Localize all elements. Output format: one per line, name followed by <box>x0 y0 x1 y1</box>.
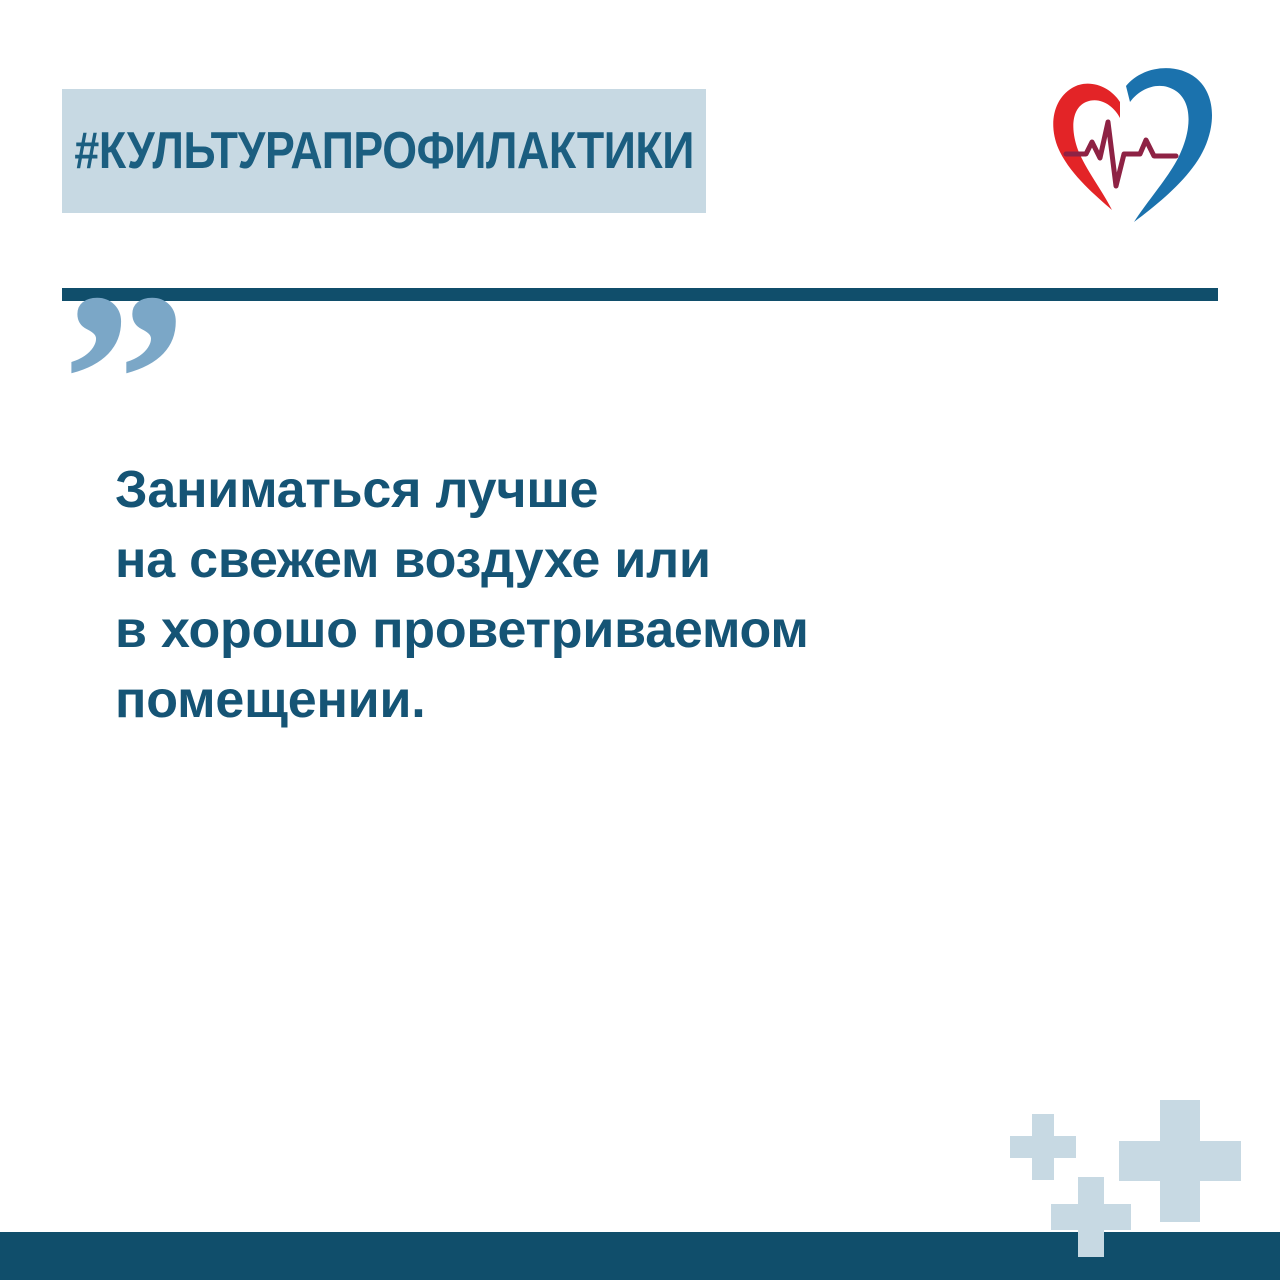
divider-rule <box>62 288 1218 301</box>
quote-mark-icon: ” <box>62 318 222 438</box>
poster-canvas: #КУЛЬТУРАПРОФИЛАКТИКИ ” Заниматься лучше… <box>0 0 1280 1280</box>
heart-ecg-logo <box>1030 62 1220 227</box>
logo-blue-crescent <box>1126 68 1212 222</box>
hashtag-banner: #КУЛЬТУРАПРОФИЛАКТИКИ <box>62 89 706 213</box>
decor-cross-large-icon <box>1119 1100 1241 1222</box>
quote-line: в хорошо проветриваемом <box>115 595 1015 665</box>
quote-text-block: Заниматься лучше на свежем воздухе или в… <box>115 455 1015 735</box>
quote-line: на свежем воздухе или <box>115 525 1015 595</box>
decor-cross-small-icon <box>1010 1114 1076 1180</box>
quote-line: Заниматься лучше <box>115 455 1015 525</box>
decor-cross-medium-icon <box>1051 1177 1131 1257</box>
quote-line: помещении. <box>115 665 1015 735</box>
hashtag-text: #КУЛЬТУРАПРОФИЛАКТИКИ <box>74 121 694 181</box>
